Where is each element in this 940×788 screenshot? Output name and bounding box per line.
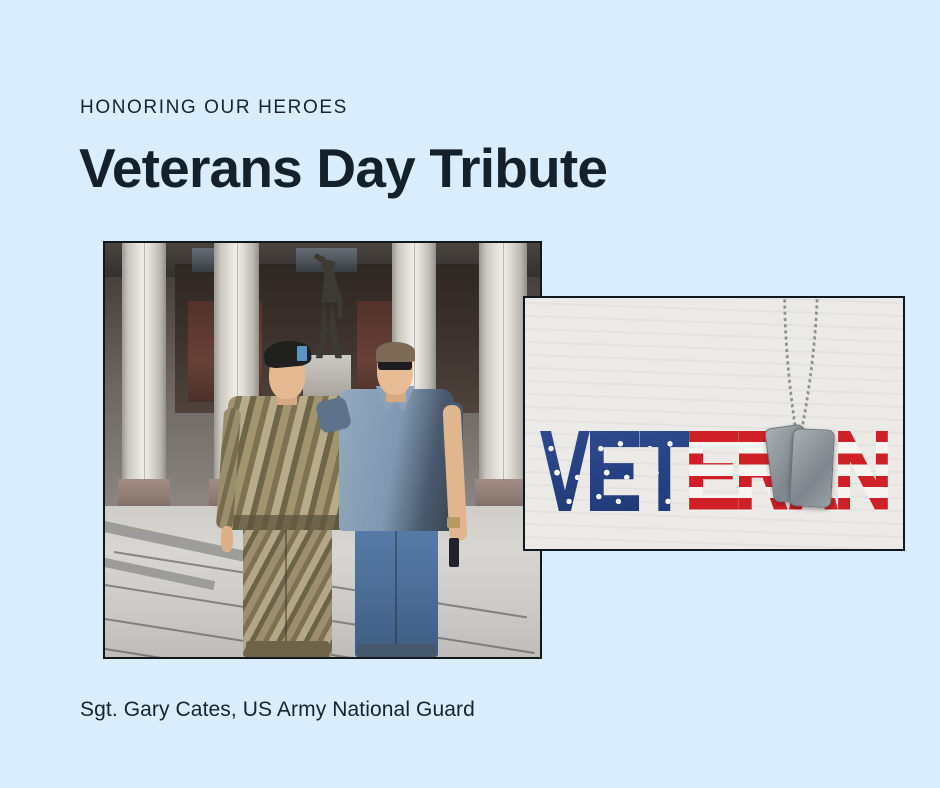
- soldier-boots: [246, 641, 330, 659]
- soldier-camo-trousers: [243, 510, 332, 657]
- photo-caption: Sgt. Gary Cates, US Army National Guard: [80, 698, 475, 722]
- civilian-wristwatch: [447, 517, 460, 528]
- dog-tag-front: [789, 427, 835, 507]
- civilian-jeans: [355, 512, 439, 657]
- photo-veteran-dog-tags: [523, 296, 905, 551]
- building-column: [122, 243, 166, 483]
- beret-unit-flash: [297, 346, 307, 361]
- veterans-day-tribute-poster: HONORING OUR HEROES Veterans Day Tribute: [0, 0, 940, 788]
- photo-soldier-and-civilian: [103, 241, 542, 659]
- whitewashed-wood-background: [525, 298, 903, 549]
- civilian-phone: [449, 538, 459, 567]
- eyebrow-label: HONORING OUR HEROES: [80, 97, 348, 119]
- civilian-shoes: [357, 644, 435, 659]
- photo-scene-building: [105, 243, 540, 657]
- person-civilian: [331, 334, 462, 657]
- civilian-hair: [376, 342, 415, 361]
- soldier-hand: [221, 526, 233, 552]
- letter-E-1: [590, 431, 640, 511]
- soldier-belt: [233, 515, 343, 529]
- letter-E-2: [689, 431, 739, 511]
- civilian-polo-shirt: [339, 389, 454, 531]
- page-title: Veterans Day Tribute: [79, 136, 607, 200]
- letter-T: [639, 431, 689, 511]
- letter-N: [838, 431, 888, 511]
- building-column: [479, 243, 527, 483]
- letter-V: [540, 431, 590, 511]
